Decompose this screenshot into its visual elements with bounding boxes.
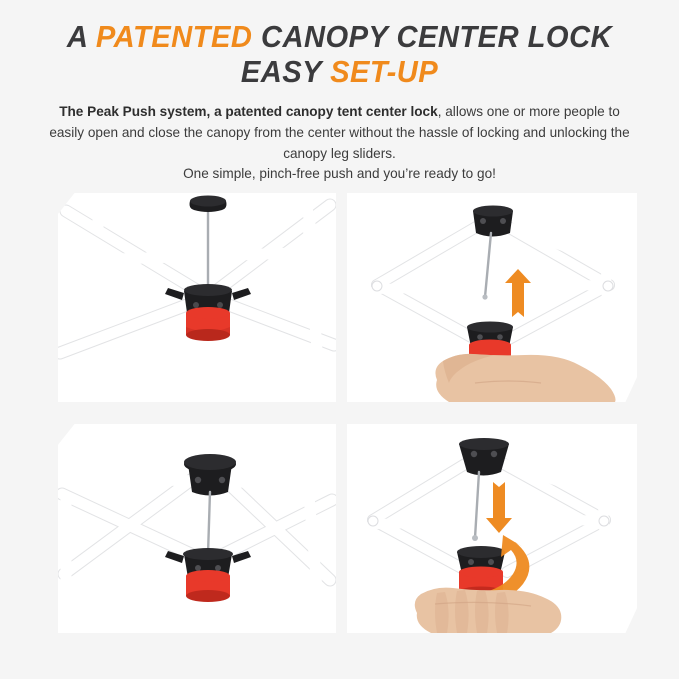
description-bold-lead: The Peak Push system, a patented canopy …: [59, 104, 438, 119]
hands-pulling-lock-down-illustration: [347, 424, 637, 633]
photo-grid: [0, 193, 679, 645]
title-text-easy: EASY: [241, 54, 330, 89]
page-title-line-2: EASY SET-UP: [37, 55, 641, 88]
title-text-canopy-center-lock: CANOPY CENTER LOCK: [252, 19, 612, 54]
page-title-line-1: A PATENTED CANOPY CENTER LOCK: [37, 20, 641, 53]
title-highlight-patented: PATENTED: [96, 19, 252, 54]
description-closing-line: One simple, pinch-free push and you’re r…: [183, 166, 496, 181]
photo-panel-bottom-right: [347, 424, 637, 633]
photo-panel-top-right: [347, 193, 637, 402]
header: A PATENTED CANOPY CENTER LOCK EASY SET-U…: [0, 0, 679, 185]
title-highlight-set-up: SET-UP: [330, 54, 438, 89]
infographic-page: A PATENTED CANOPY CENTER LOCK EASY SET-U…: [0, 0, 679, 679]
description-paragraph: The Peak Push system, a patented canopy …: [46, 102, 633, 185]
hand-pushing-lock-up-illustration: [347, 193, 637, 402]
canopy-frame-lock-lowered-illustration: [58, 193, 336, 402]
title-text-a: A: [67, 19, 96, 54]
canopy-frame-lock-extended-illustration: [58, 424, 336, 633]
photo-panel-top-left: [58, 193, 336, 402]
photo-panel-bottom-left: [58, 424, 336, 633]
